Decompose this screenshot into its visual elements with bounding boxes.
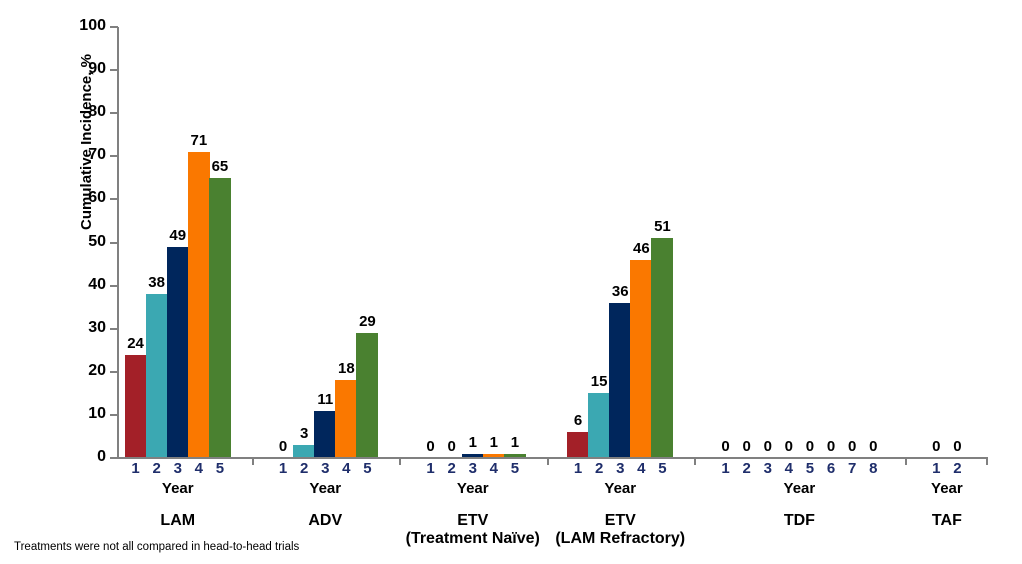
x-axis-caption: Year (118, 481, 238, 496)
y-axis-tick-label-wrap: 20 (42, 363, 106, 379)
y-axis-tick-label: 50 (46, 234, 106, 250)
bar-value-label: 0 (932, 439, 982, 454)
y-axis-tick-label-wrap: 70 (42, 147, 106, 163)
x-axis-tick-label: 2 (932, 461, 982, 476)
bar (188, 152, 210, 458)
bar (314, 411, 336, 458)
y-axis-tick-label-wrap: 0 (42, 449, 106, 465)
y-axis-tick-label: 40 (46, 277, 106, 293)
y-axis-tick-label: 70 (46, 147, 106, 163)
bar-value-label: 71 (174, 133, 224, 148)
x-axis-end-tick (986, 457, 988, 465)
bar-value-label: 29 (342, 314, 392, 329)
y-axis-tick-label: 100 (46, 18, 106, 34)
x-axis-caption: Year (887, 481, 1007, 496)
y-axis-tick-label: 0 (46, 449, 106, 465)
x-axis-caption: Year (560, 481, 680, 496)
bar (630, 260, 652, 458)
y-axis-tick-label-wrap: 30 (42, 320, 106, 336)
footnote: Treatments were not all compared in head… (14, 541, 299, 553)
bar (146, 294, 168, 458)
y-axis-tick-label: 90 (46, 61, 106, 77)
bar-value-label: 51 (637, 219, 687, 234)
y-axis-tick-label: 60 (46, 190, 106, 206)
y-axis-tick-label-wrap: 60 (42, 190, 106, 206)
x-axis-group-separator-tick (547, 457, 549, 465)
y-axis-tick-label-wrap: 90 (42, 61, 106, 77)
x-axis-tick-label: 5 (637, 461, 687, 476)
x-axis-line (117, 457, 988, 459)
y-axis-tick-label: 30 (46, 320, 106, 336)
bar (209, 178, 231, 458)
x-axis-tick-label: 5 (195, 461, 245, 476)
x-axis-caption: Year (739, 481, 859, 496)
bar (335, 380, 357, 458)
x-axis-tick-label: 5 (490, 461, 540, 476)
x-axis-group-separator-tick (252, 457, 254, 465)
bar (609, 303, 631, 458)
bar (356, 333, 378, 458)
bar-value-label: 65 (195, 159, 245, 174)
y-axis-tick-label: 20 (46, 363, 106, 379)
group-label: TAF (842, 512, 1022, 530)
bar-value-label: 1 (490, 435, 540, 450)
x-axis-caption: Year (265, 481, 385, 496)
bar (125, 355, 147, 458)
x-axis-tick-label: 8 (848, 461, 898, 476)
y-axis-tick-label-wrap: 100 (42, 18, 106, 34)
x-axis-caption: Year (413, 481, 533, 496)
bar (588, 393, 610, 458)
bar (567, 432, 589, 458)
x-axis-tick-label: 5 (342, 461, 392, 476)
bar-value-label: 0 (848, 439, 898, 454)
x-axis-group-separator-tick (905, 457, 907, 465)
bar (651, 238, 673, 458)
x-axis-group-separator-tick (694, 457, 696, 465)
bar (167, 247, 189, 458)
y-axis-tick-label-wrap: 40 (42, 277, 106, 293)
y-axis-tick-label: 10 (46, 406, 106, 422)
y-axis-tick-label-wrap: 50 (42, 234, 106, 250)
y-axis-tick-label-wrap: 10 (42, 406, 106, 422)
x-axis-group-separator-tick (399, 457, 401, 465)
y-axis-tick-label-wrap: 80 (42, 104, 106, 120)
plot-area: 2438497165031118290011161536465100000000… (117, 27, 988, 458)
bar-chart: Cumulative Incidence, % 1009080706050403… (0, 0, 1022, 564)
y-axis-tick-label: 80 (46, 104, 106, 120)
